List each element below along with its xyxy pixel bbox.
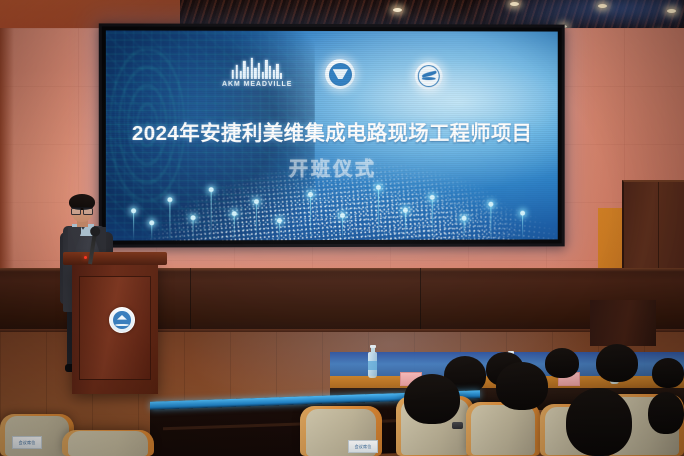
glow-stem — [405, 210, 406, 240]
screen-logo-row: AKM MEADVILLE — [106, 56, 558, 111]
glow-stem — [256, 202, 257, 241]
audience-head — [596, 344, 638, 382]
glow-stem — [192, 217, 193, 240]
university-emblem-2-icon — [415, 62, 443, 90]
downlight-icon — [393, 8, 402, 12]
akm-meadville-wordmark: AKM MEADVILLE — [222, 81, 292, 88]
university-crest-icon — [109, 307, 135, 333]
university-emblem-1-icon — [325, 59, 355, 89]
glow-stem — [133, 211, 134, 241]
audience-head — [652, 358, 684, 388]
water-bottle — [368, 352, 377, 378]
emblem-inner — [418, 65, 440, 87]
glow-stem — [211, 189, 212, 240]
akm-meadville-logo: AKM MEADVILLE — [222, 58, 292, 88]
lectern — [72, 262, 158, 394]
glow-stem — [151, 223, 152, 241]
emblem-inner — [329, 63, 352, 86]
screen-title: 2024年安捷利美维集成电路现场工程师项目 — [106, 116, 558, 146]
glow-stem — [279, 221, 280, 240]
seat-control-button[interactable] — [452, 422, 463, 429]
seat-cushion — [471, 405, 535, 456]
seat-label-tag: 会议席位 — [348, 440, 378, 453]
crest-inner — [113, 311, 131, 329]
glow-stem — [432, 198, 433, 240]
auditorium-seat — [62, 430, 154, 456]
audience-head — [648, 392, 684, 434]
glow-stem — [491, 205, 492, 240]
glow-stem — [464, 219, 465, 240]
auditorium-seat — [466, 402, 540, 456]
seat-label-tag: 会议席位 — [12, 436, 42, 449]
glow-stem — [310, 194, 311, 240]
audience-head — [545, 348, 579, 378]
downlight-icon — [510, 2, 519, 6]
eyeglasses-icon — [71, 207, 93, 212]
wainscot-seam — [420, 268, 421, 334]
audience-head — [566, 388, 632, 456]
downlight-icon — [598, 4, 607, 8]
glow-stem — [233, 214, 234, 240]
stage-side-table — [590, 300, 656, 346]
glow-stem — [170, 200, 171, 241]
downlight-icon — [667, 9, 676, 13]
seat-cushion — [68, 431, 147, 455]
led-screen: AKM MEADVILLE 2024年安捷利美维集成电路现场工程师项目 开班仪式 — [99, 23, 565, 247]
wainscot-seam — [190, 268, 191, 334]
led-screen-surface: AKM MEADVILLE 2024年安捷利美维集成电路现场工程师项目 开班仪式 — [106, 30, 558, 240]
audience-head — [404, 374, 460, 424]
auditorium-seat: 会议席位 — [300, 406, 382, 456]
lectern-front-panel — [79, 276, 151, 380]
auditorium-photo: AKM MEADVILLE 2024年安捷利美维集成电路现场工程师项目 开班仪式 — [0, 0, 684, 456]
microphone-led-icon — [84, 256, 87, 259]
audience-head — [496, 362, 548, 410]
lectern-top — [63, 252, 167, 265]
akm-bars-icon — [232, 58, 282, 79]
screen-subtitle: 开班仪式 — [106, 154, 558, 181]
glow-stem — [378, 187, 379, 240]
glow-stem — [342, 215, 343, 240]
glow-stem — [522, 213, 523, 239]
